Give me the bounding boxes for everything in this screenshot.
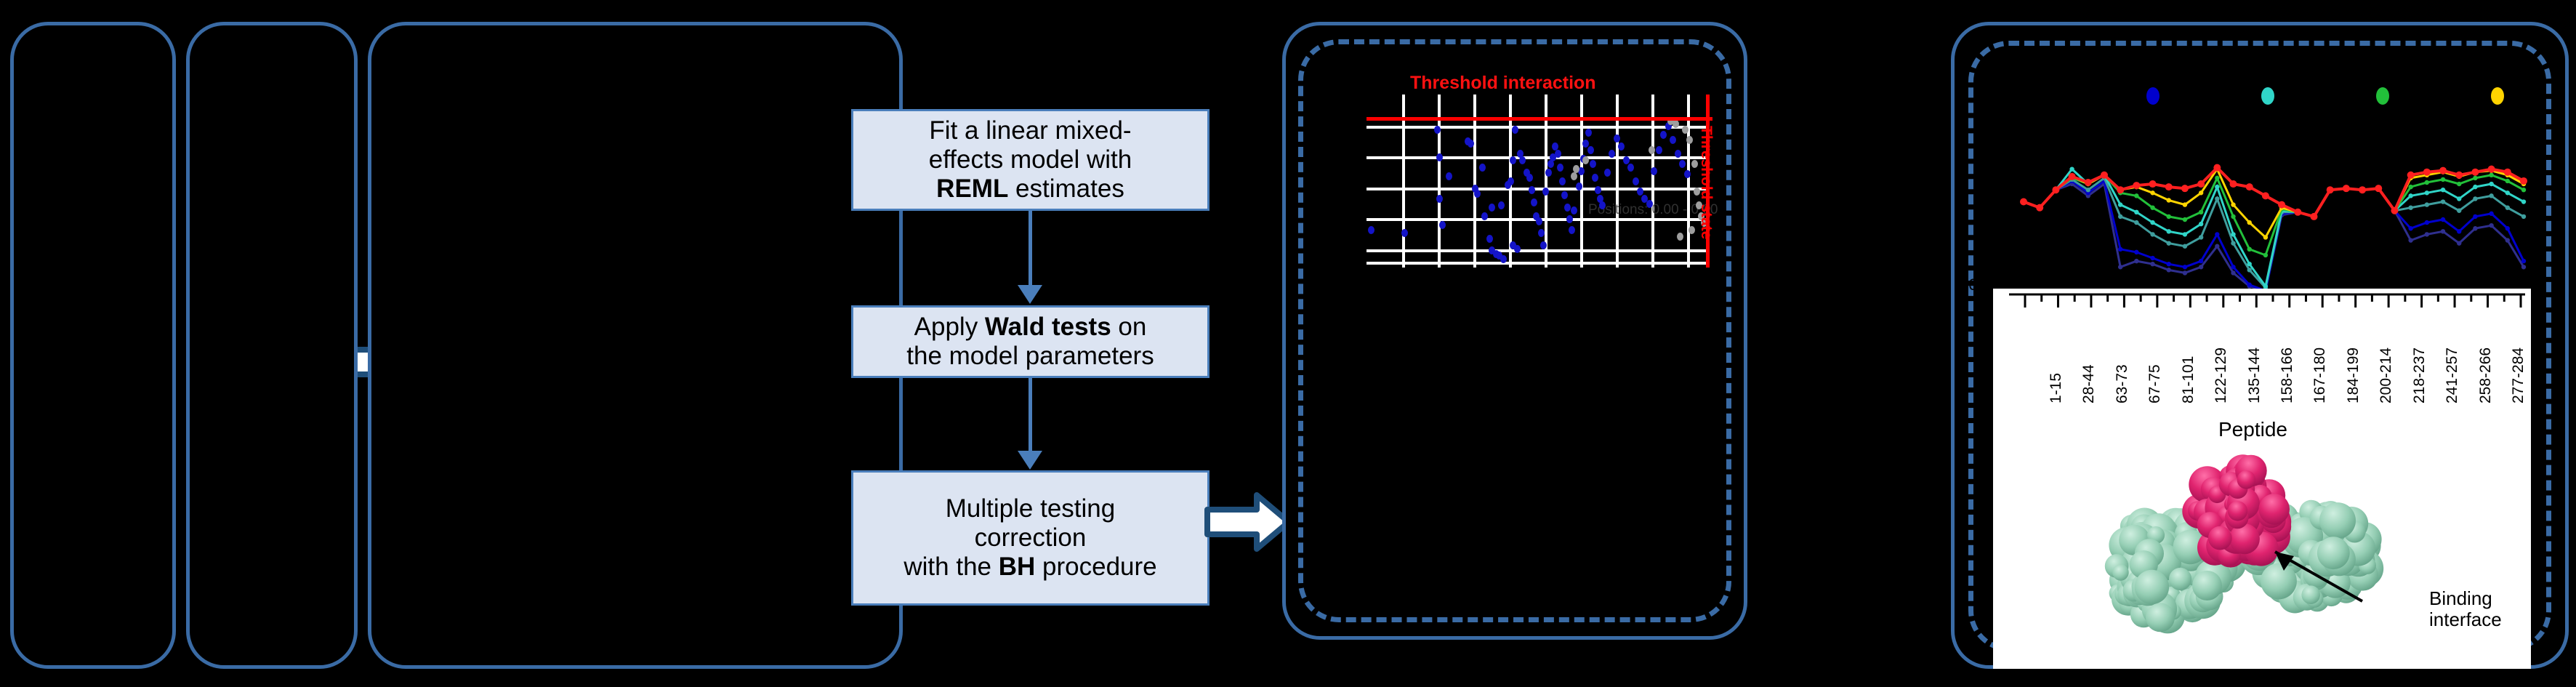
peptide-series-marker — [2167, 214, 2171, 219]
peptide-series-marker — [2473, 226, 2477, 230]
peptide-series-marker — [2505, 226, 2510, 230]
scatter-point — [1682, 126, 1689, 134]
peptide-series-marker — [2118, 247, 2122, 252]
peptide-series-marker — [2150, 262, 2154, 266]
flow-1-line-1: Fit a linear mixed- — [929, 116, 1131, 145]
scatter-point — [1673, 120, 1679, 128]
scatter-gridline-h — [1367, 249, 1708, 252]
peptide-series-marker — [2199, 259, 2203, 263]
scatter-point — [1481, 212, 1488, 220]
protein-surface-blob — [2146, 603, 2175, 632]
peptide-series-marker — [2086, 188, 2090, 192]
threshold-state-label: Threshold state — [1697, 126, 1715, 239]
scatter-gridline-h — [1367, 188, 1708, 190]
peptide-series-marker — [2441, 229, 2445, 233]
scatter-point — [1434, 126, 1441, 134]
peptide-series-marker — [2183, 265, 2187, 269]
flow-3-line-3-post: procedure — [1035, 553, 1156, 581]
peptide-category-label: 184-199 — [2345, 347, 2362, 403]
peptide-series-marker — [2134, 220, 2138, 225]
scatter-point — [1489, 204, 1495, 212]
scatter-point — [1649, 146, 1655, 154]
protein-surface-blob — [2317, 537, 2350, 569]
peptide-series-marker — [2199, 222, 2203, 226]
peptide-series-marker — [2489, 182, 2493, 186]
peptide-series-marker — [2134, 210, 2138, 214]
peptide-series-marker — [2246, 183, 2253, 190]
flow-step-wald-tests: Apply Wald tests on the model parameters — [851, 305, 1209, 378]
flow-connector-2 — [1029, 378, 1032, 451]
protein-surface-render — [2057, 443, 2435, 661]
peptide-category-label: 200-214 — [2378, 347, 2395, 403]
scatter-point — [1660, 131, 1667, 139]
flow-2-post: on — [1111, 313, 1147, 341]
peptide-series-marker — [2425, 202, 2429, 206]
peptide-series-marker — [2505, 205, 2510, 209]
peptide-series-marker — [2167, 229, 2171, 233]
binding-interface-caption: Binding interface — [2429, 588, 2531, 630]
scatter-point — [1474, 190, 1481, 198]
peptide-series-marker — [2407, 172, 2415, 179]
peptide-series-marker — [2263, 253, 2268, 257]
protein-surface-blob — [2237, 470, 2256, 489]
peptide-axis-title: Peptide — [2218, 418, 2287, 441]
peptide-legend-dot — [2261, 87, 2274, 105]
scatter-point — [1592, 174, 1598, 182]
flow-3-bh-bold: BH — [999, 553, 1036, 581]
peptide-detail-card: 0.0 1-1528-4463-7367-7581-101122-129135-… — [1993, 289, 2531, 669]
peptide-series-marker — [2471, 169, 2479, 176]
peptide-series-marker — [2149, 180, 2157, 188]
peptide-series-marker — [2150, 220, 2154, 225]
scatter-point — [1670, 136, 1676, 144]
scatter-point — [1500, 255, 1507, 263]
scatter-point — [1519, 156, 1526, 164]
peptide-series-marker — [2052, 186, 2059, 193]
protein-surface-blob — [2135, 570, 2169, 604]
peptide-series-marker — [2359, 186, 2366, 193]
peptide-series-marker — [2439, 167, 2447, 174]
scatter-gridline-h — [1367, 126, 1708, 129]
peptide-series-marker — [2441, 199, 2445, 204]
peptide-series-marker — [2521, 188, 2526, 192]
peptide-series-marker — [2457, 209, 2461, 213]
peptide-series-marker — [2150, 190, 2154, 195]
peptide-category-label: 167-180 — [2311, 347, 2329, 403]
peptide-series-marker — [2118, 265, 2122, 269]
peptide-category-label: 218-237 — [2411, 347, 2428, 403]
scatter-point — [1675, 150, 1681, 158]
peptide-series-marker — [2134, 250, 2138, 254]
scatter-point — [1526, 174, 1533, 182]
peptide-series-marker — [2294, 209, 2301, 216]
peptide-series-marker — [2231, 265, 2235, 269]
peptide-series-marker — [2167, 268, 2171, 272]
flow-3-line-2: correction — [975, 523, 1087, 552]
scatter-point — [1564, 204, 1571, 212]
flow-1-line-3-rest: estimates — [1008, 174, 1124, 203]
peptide-series-marker — [2247, 247, 2252, 252]
flow-1-line-2: effects model with — [929, 145, 1132, 174]
peptide-series-marker — [2183, 202, 2187, 206]
peptide-category-label: 241-257 — [2444, 347, 2461, 403]
scatter-plot-area: Positions: 0.00 - 0.00 — [1367, 95, 1708, 268]
peptide-category-label: 122-129 — [2213, 347, 2230, 403]
peptide-series-marker — [2213, 164, 2221, 172]
peptide-series-marker — [2199, 190, 2203, 195]
peptide-series-marker — [2101, 172, 2108, 179]
peptide-profile-svg — [1993, 58, 2531, 298]
peptide-series-marker — [2231, 202, 2235, 206]
peptide-series-marker — [2181, 185, 2189, 192]
flow-connector-1 — [1029, 211, 1032, 285]
peptide-series-marker — [2473, 185, 2477, 189]
peptide-series-marker — [2150, 205, 2154, 209]
peptide-series-marker — [2167, 198, 2171, 202]
scatter-title: Threshold interaction — [1410, 73, 1596, 94]
flow-connector-1-arrowhead-icon — [1018, 285, 1042, 304]
peptide-series-marker — [2521, 214, 2526, 219]
peptide-series-marker — [2521, 259, 2526, 263]
peptide-series-marker — [2150, 232, 2154, 236]
threshold-interaction-line — [1367, 117, 1712, 121]
peptide-series-marker — [2020, 198, 2027, 206]
peptide-series-marker — [2327, 186, 2334, 193]
peptide-series-marker — [2343, 185, 2350, 192]
scatter-point — [1542, 188, 1549, 196]
csv-file-panel — [186, 22, 358, 669]
scatter-point — [1368, 226, 1374, 234]
scatter-point — [1510, 241, 1516, 249]
peptide-series-marker — [2134, 193, 2138, 198]
peptide-y-tick-zero: 0.0 — [1955, 276, 1978, 294]
scatter-point — [1555, 150, 1561, 158]
scatter-point — [1569, 226, 1575, 234]
peptide-series-marker — [2425, 180, 2429, 185]
input-data-panel — [10, 22, 176, 669]
scatter-point — [1512, 126, 1518, 134]
scatter-point — [1686, 136, 1693, 144]
protein-surface-blob — [2261, 563, 2297, 600]
scatter-point — [1604, 169, 1611, 177]
scatter-point — [1571, 206, 1577, 214]
peptide-series-marker — [2247, 220, 2252, 225]
peptide-category-label: 1-15 — [2048, 373, 2065, 403]
peptide-series-marker — [2263, 235, 2268, 239]
scatter-point — [1439, 221, 1446, 229]
peptide-series-line — [2024, 169, 2524, 286]
peptide-legend-dot — [2491, 87, 2504, 105]
peptide-series-marker — [2425, 220, 2429, 225]
peptide-series-marker — [2183, 244, 2187, 249]
scatter-point — [1529, 186, 1535, 194]
flow-2-wald-bold: Wald tests — [985, 313, 1111, 341]
peptide-series-marker — [2408, 238, 2412, 242]
scatter-point — [1498, 201, 1505, 209]
peptide-series-marker — [2521, 199, 2526, 204]
peptide-series-marker — [2473, 196, 2477, 201]
peptide-series-marker — [2425, 232, 2429, 236]
peptide-series-marker — [2425, 190, 2429, 195]
scatter-point — [1582, 156, 1589, 164]
peptide-series-marker — [2441, 188, 2445, 192]
scatter-point — [1436, 195, 1443, 203]
peptide-series-marker — [2133, 182, 2140, 189]
protein-surface-blob — [2208, 526, 2232, 550]
threshold-scatter-chart: Threshold interaction Positions: 0.00 - … — [1323, 57, 1715, 275]
peptide-series-marker — [2085, 179, 2092, 186]
peptide-series-marker — [2505, 238, 2510, 242]
flow-step-fit-model: Fit a linear mixed- effects model with R… — [851, 109, 1209, 211]
peptide-series-marker — [2167, 241, 2171, 245]
peptide-series-marker — [2521, 265, 2526, 269]
peptide-series-marker — [2118, 214, 2122, 219]
protein-surface-blob — [2229, 523, 2260, 554]
peptide-category-label: 81-101 — [2180, 356, 2197, 403]
scatter-point — [1609, 150, 1615, 158]
peptide-series-marker — [2165, 183, 2173, 190]
scatter-point — [1545, 169, 1552, 177]
scatter-axis-bottom — [1367, 262, 1708, 265]
peptide-series-marker — [2408, 205, 2412, 209]
scatter-point — [1633, 177, 1639, 185]
protein-surface-blob — [2319, 502, 2356, 539]
scatter-point — [1508, 177, 1514, 185]
peptide-series-marker — [2167, 262, 2171, 266]
peptide-series-marker — [2199, 235, 2203, 239]
scatter-point — [1585, 129, 1592, 137]
protein-surface-blob — [2169, 568, 2191, 590]
flow-3-line-1: Multiple testing — [946, 494, 1115, 523]
peptide-series-marker — [2183, 232, 2187, 236]
peptide-series-marker — [2489, 173, 2493, 177]
scatter-gridline-h — [1367, 156, 1708, 159]
peptide-series-marker — [2118, 202, 2122, 206]
peptide-series-marker — [2199, 210, 2203, 214]
protein-surface-blob — [2301, 585, 2320, 604]
peptide-series-marker — [2183, 270, 2187, 275]
peptide-series-marker — [2505, 190, 2510, 195]
scatter-point — [1677, 233, 1683, 241]
peptide-series-marker — [2408, 185, 2412, 189]
peptide-series-marker — [2117, 186, 2124, 193]
peptide-legend-dot — [2376, 87, 2389, 105]
peptide-category-label: 277-284 — [2510, 347, 2527, 403]
figure-stage: X CSV Fit a linear mixed- effects model … — [0, 0, 2576, 687]
peptide-series-marker — [2215, 176, 2219, 180]
peptide-profile-chart — [1993, 58, 2531, 298]
scatter-point — [1571, 172, 1577, 180]
peptide-series-marker — [2505, 179, 2510, 183]
peptide-series-marker — [2247, 262, 2252, 266]
statistics-panel — [368, 22, 903, 669]
peptide-series-marker — [2247, 268, 2252, 272]
peptide-series-marker — [2310, 213, 2317, 220]
protein-surface-blob — [2192, 571, 2222, 600]
peptide-series-marker — [2231, 270, 2235, 275]
scatter-point — [1436, 153, 1443, 161]
peptide-series-marker — [2520, 177, 2527, 185]
peptide-series-marker — [2150, 256, 2154, 260]
scatter-point — [1510, 156, 1516, 164]
flow-2-pre: Apply — [914, 313, 985, 341]
peptide-series-marker — [2473, 214, 2477, 219]
peptide-x-axis — [1993, 289, 2531, 313]
peptide-series-marker — [2215, 244, 2219, 249]
scatter-point — [1651, 167, 1657, 175]
peptide-series-marker — [2441, 177, 2445, 182]
peptide-series-marker — [2262, 192, 2269, 199]
peptide-series-marker — [2231, 232, 2235, 236]
flow-step-multiple-testing: Multiple testing correction with the BH … — [851, 470, 1209, 606]
scatter-point — [1656, 146, 1662, 154]
scatter-point — [1401, 229, 1408, 237]
scatter-point — [1561, 191, 1568, 199]
peptide-series-marker — [2489, 223, 2493, 228]
peptide-series-marker — [2230, 180, 2237, 188]
scatter-point — [1646, 200, 1653, 208]
scatter-point — [1538, 229, 1545, 237]
flow-1-reml-bold: REML — [936, 174, 1008, 203]
flow-2-line-2: the model parameters — [906, 342, 1154, 370]
scatter-point — [1618, 142, 1625, 150]
flow-connector-2-arrowhead-icon — [1018, 451, 1042, 470]
peptide-series-marker — [2457, 196, 2461, 201]
peptide-series-marker — [2069, 173, 2076, 180]
peptide-legend-dot — [2146, 87, 2160, 105]
peptide-series-marker — [2197, 180, 2205, 188]
scatter-point — [1446, 172, 1452, 180]
peptide-series-marker — [2408, 226, 2412, 230]
peptide-series-marker — [2036, 204, 2043, 212]
scatter-point — [1559, 177, 1566, 185]
peptide-series-marker — [2215, 196, 2219, 201]
protein-surface-blob — [2228, 501, 2247, 521]
peptide-series-marker — [2457, 229, 2461, 233]
peptide-series-marker — [2247, 283, 2252, 287]
scatter-point — [1468, 140, 1474, 148]
scatter-point — [1590, 160, 1596, 168]
peptide-series-marker — [2215, 185, 2219, 189]
peptide-series-marker — [2391, 207, 2398, 214]
peptide-series-marker — [2457, 182, 2461, 186]
peptide-series-marker — [2375, 185, 2382, 192]
protein-surface-blob — [2112, 564, 2128, 580]
peptide-series-marker — [2504, 169, 2511, 176]
scatter-point — [1595, 186, 1601, 194]
scatter-point — [1576, 182, 1582, 190]
peptide-category-label: 158-166 — [2279, 347, 2296, 403]
peptide-category-label: 28-44 — [2080, 364, 2098, 403]
peptide-series-marker — [2489, 212, 2493, 216]
peptide-category-label: 63-73 — [2114, 364, 2131, 403]
peptide-series-marker — [2488, 166, 2495, 173]
peptide-series-marker — [2423, 169, 2431, 176]
peptide-series-line — [2024, 169, 2524, 238]
peptide-series-marker — [2231, 214, 2235, 219]
peptide-series-marker — [2199, 265, 2203, 269]
scatter-point — [1566, 215, 1573, 223]
peptide-series-marker — [2455, 172, 2463, 179]
peptide-series-marker — [2473, 176, 2477, 180]
scatter-point — [1627, 164, 1634, 172]
scatter-point — [1587, 146, 1594, 154]
protein-surface-blob — [2258, 494, 2290, 525]
scatter-point — [1689, 226, 1695, 234]
peptide-series-marker — [2408, 193, 2412, 198]
peptide-series-marker — [2215, 232, 2219, 236]
scatter-point — [1547, 160, 1554, 168]
arrow-statistics-to-results — [1204, 491, 1292, 553]
peptide-category-label: 135-144 — [2246, 347, 2263, 403]
peptide-series-marker — [2134, 259, 2138, 263]
peptide-series-marker — [2278, 201, 2285, 209]
peptide-category-label: 67-75 — [2146, 364, 2164, 403]
peptide-series-marker — [2069, 166, 2074, 171]
peptide-series-marker — [2489, 193, 2493, 198]
scatter-point — [1536, 217, 1542, 225]
flow-3-line-3-pre: with the — [903, 553, 998, 581]
scatter-point — [1679, 160, 1686, 168]
scatter-point — [1623, 156, 1630, 164]
peptide-series-marker — [2441, 217, 2445, 222]
peptide-series-marker — [2231, 241, 2235, 245]
scatter-point — [1479, 164, 1486, 172]
scatter-point — [1531, 198, 1537, 206]
scatter-point — [1486, 235, 1493, 243]
peptide-series-marker — [2457, 241, 2461, 245]
peptide-series-marker — [2183, 217, 2187, 222]
scatter-point — [1614, 134, 1620, 142]
peptide-category-label: 258-266 — [2477, 347, 2495, 403]
scatter-point — [1557, 164, 1563, 172]
